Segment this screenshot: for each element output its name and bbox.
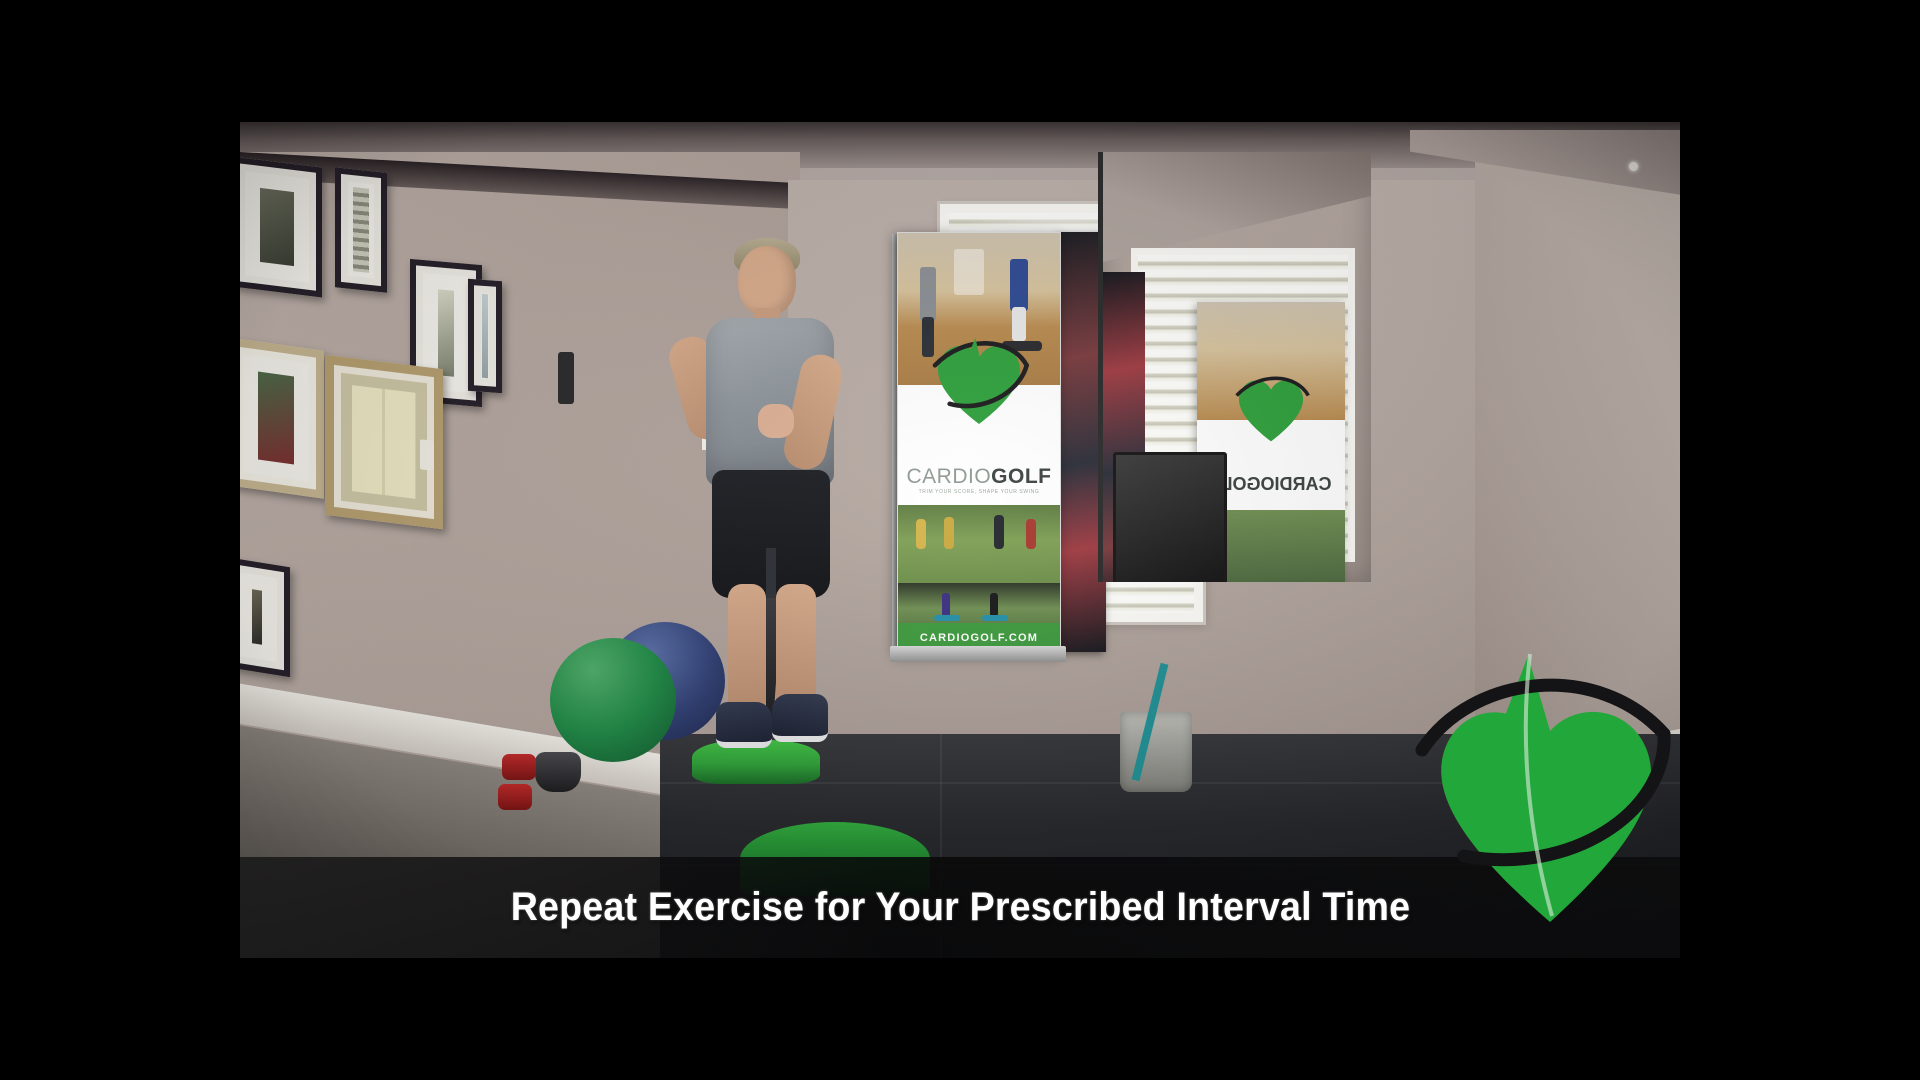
- mirror-tv-reflection: [1113, 452, 1227, 582]
- caption-bar: Repeat Exercise for Your Prescribed Inte…: [240, 857, 1680, 958]
- person-shoe-left: [716, 702, 772, 748]
- person-leg-left: [728, 584, 766, 720]
- thermostat-icon: [558, 352, 574, 404]
- banner-photo-outdoor-2: [898, 583, 1060, 625]
- mirror-heart-icon: [1228, 364, 1314, 450]
- framed-small-print: [468, 279, 502, 393]
- video-frame[interactable]: CARDIOGOLF TRIM YOUR SCORE, SHAPE YOUR S…: [240, 122, 1680, 958]
- frame-art: [252, 589, 262, 645]
- person-exercising: [672, 232, 862, 792]
- dumbbell-red: [502, 754, 536, 780]
- person-head: [738, 246, 796, 316]
- cardiogolf-banner: CARDIOGOLF TRIM YOUR SCORE, SHAPE YOUR S…: [897, 232, 1061, 654]
- frame-art: [352, 385, 416, 499]
- framed-print-2: [335, 167, 387, 292]
- frame-art: [353, 187, 369, 273]
- frame-art: [482, 294, 488, 378]
- screenshot-root: CARDIOGOLF TRIM YOUR SCORE, SHAPE YOUR S…: [0, 0, 1920, 1080]
- banner-logo-text: CARDIOGOLF: [898, 465, 1060, 489]
- frame-art: [438, 289, 454, 376]
- frame-art: [258, 371, 294, 464]
- cardiogolf-heart-icon: [924, 325, 1034, 435]
- banner-tagline: TRIM YOUR SCORE, SHAPE YOUR SWING: [898, 489, 1060, 495]
- wall-mirror: CARDIOGOLF: [1098, 152, 1371, 582]
- dumbbell-red: [498, 784, 532, 810]
- banner-logo-golf: GOLF: [991, 465, 1051, 488]
- framed-photo-low: [240, 557, 290, 677]
- equipment-basket: [1120, 712, 1192, 792]
- framed-photo-1: [240, 156, 322, 297]
- person-hand: [758, 404, 794, 438]
- kettlebell-black: [535, 752, 581, 792]
- frame-art: [260, 188, 294, 266]
- person-shoe-right: [772, 694, 828, 742]
- stability-ball-green: [550, 638, 676, 762]
- caption-text: Repeat Exercise for Your Prescribed Inte…: [510, 885, 1409, 930]
- banner-base-stand: [890, 646, 1066, 662]
- banner-photo-outdoor-1: [898, 505, 1060, 583]
- person-shorts: [712, 470, 830, 598]
- wall-switch-icon: [420, 439, 434, 470]
- banner-url-text: CARDIOGOLF.COM: [920, 632, 1038, 644]
- framed-photo-3: [240, 337, 324, 498]
- mirror-ceiling-reflection: [1103, 152, 1371, 262]
- wall-right: [1475, 142, 1680, 782]
- banner-logo-cardio: CARDIO: [906, 465, 991, 488]
- ceiling-light-icon: [1629, 162, 1638, 171]
